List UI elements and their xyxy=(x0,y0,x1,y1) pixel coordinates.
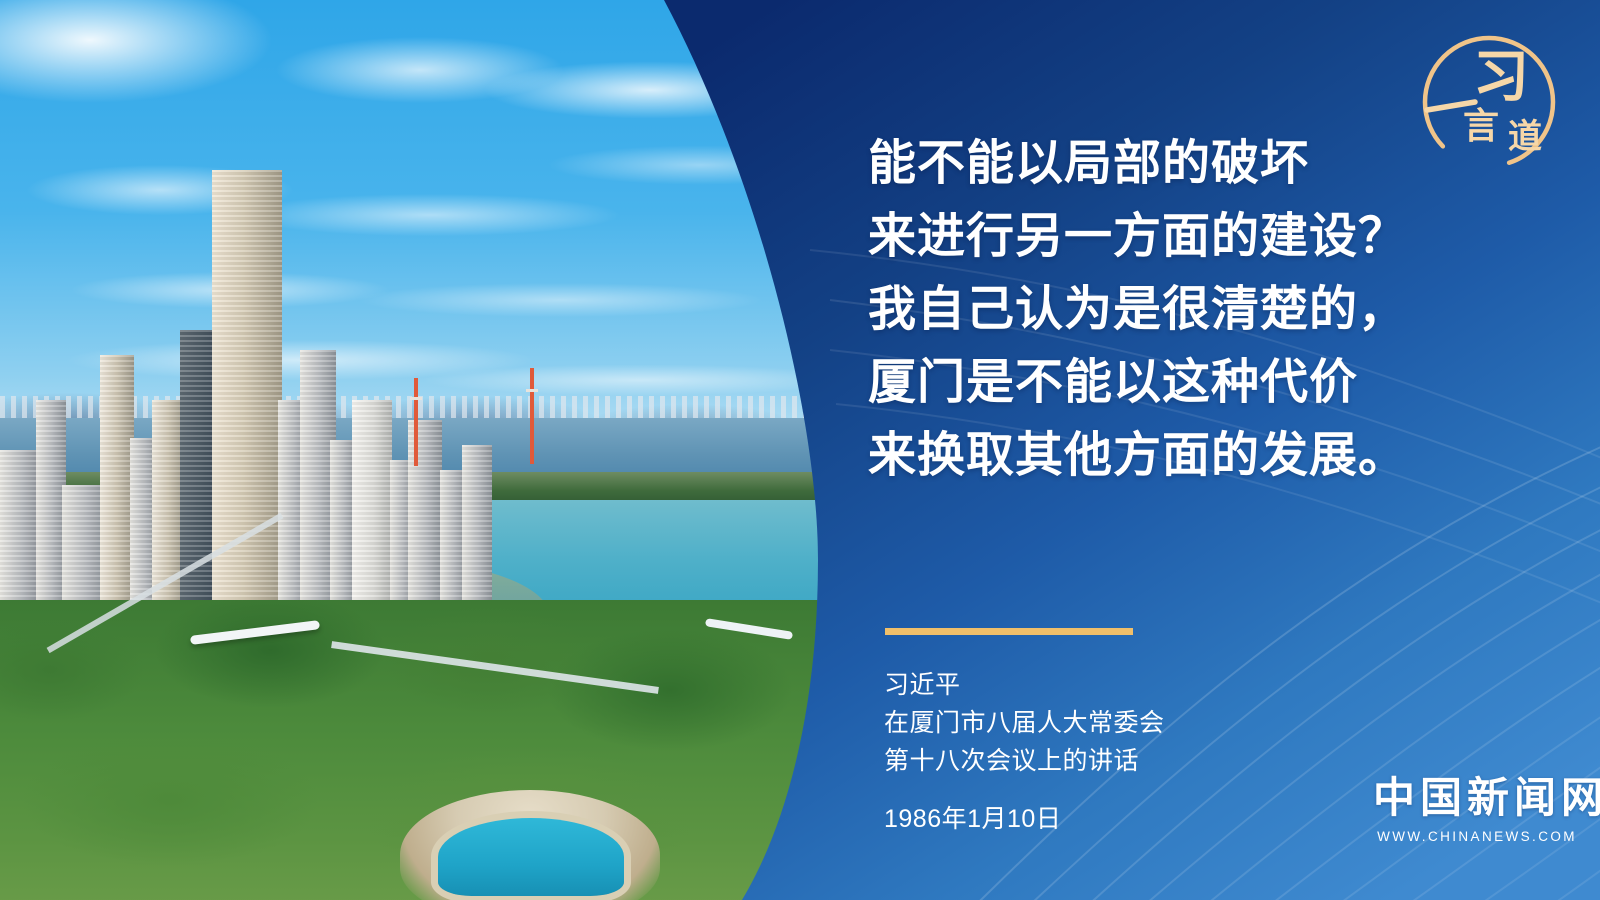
seal-char-yan: 言 xyxy=(1463,106,1499,146)
xi-yan-dao-seal-logo: 习 言 道 xyxy=(1409,22,1569,182)
quote-line-1: 能不能以局部的破坏 xyxy=(868,128,1428,201)
radio-tower-right xyxy=(530,368,534,464)
attribution-occasion-line-2: 第十八次会议上的讲话 xyxy=(884,742,1324,780)
seal-char-dao: 道 xyxy=(1508,118,1542,156)
attribution-date: 1986年1月10日 xyxy=(884,800,1324,838)
attribution-block: 习近平 在厦门市八届人大常委会 第十八次会议上的讲话 1986年1月10日 xyxy=(884,666,1324,838)
attribution-speaker: 习近平 xyxy=(884,666,1324,704)
poster-root: 能不能以局部的破坏 来进行另一方面的建设？ 我自己认为是很清楚的， 厦门是不能以… xyxy=(0,0,1600,900)
quote-line-5: 来换取其他方面的发展。 xyxy=(868,420,1428,493)
gold-divider xyxy=(885,628,1133,635)
fountain-pool xyxy=(438,818,624,896)
seal-char-xi: 习 xyxy=(1473,47,1529,109)
radio-tower-left xyxy=(414,378,418,466)
xiamen-skyline-photo xyxy=(0,0,820,900)
chinanews-wordmark: 中国新闻网 xyxy=(1373,778,1581,820)
chinanews-logo[interactable]: 中国新闻网 WWW.CHINANEWS.COM xyxy=(1373,778,1581,844)
attribution-occasion-line-1: 在厦门市八届人大常委会 xyxy=(884,704,1324,742)
quote-line-2: 来进行另一方面的建设？ xyxy=(868,201,1428,274)
chinanews-url: WWW.CHINANEWS.COM xyxy=(1373,829,1581,844)
quote-block: 能不能以局部的破坏 来进行另一方面的建设？ 我自己认为是很清楚的， 厦门是不能以… xyxy=(868,128,1428,493)
skyline-buildings xyxy=(0,0,520,700)
quote-line-3: 我自己认为是很清楚的， xyxy=(868,274,1428,347)
quote-line-4: 厦门是不能以这种代价 xyxy=(868,347,1428,420)
